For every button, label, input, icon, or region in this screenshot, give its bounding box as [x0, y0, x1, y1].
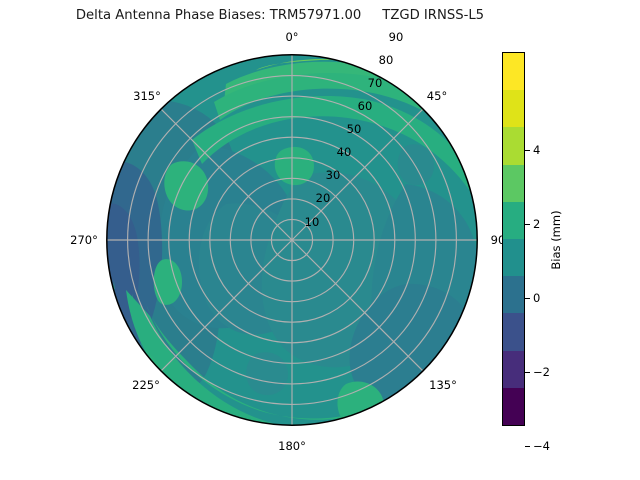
- radial-label-20: 20: [316, 191, 331, 205]
- colorbar-tick-0: [525, 298, 530, 299]
- polar-grid-spokes: [107, 55, 477, 425]
- page-title: Delta Antenna Phase Biases: TRM57971.00 …: [0, 8, 560, 23]
- colorbar-ticklabel-neg4: −4: [533, 439, 550, 453]
- radial-label-90: 90: [389, 30, 404, 44]
- colorbar-ticklabel-neg2: −2: [533, 365, 550, 379]
- colorbar-band-6: [503, 276, 524, 313]
- colorbar-band-0: [503, 53, 524, 90]
- angular-label-135: 135°: [429, 378, 457, 392]
- figure-canvas: Delta Antenna Phase Biases: TRM57971.00 …: [0, 0, 640, 480]
- colorbar[interactable]: 4 2 0 −2 −4: [502, 52, 525, 426]
- colorbar-band-1: [503, 90, 524, 127]
- colorbar-band-5: [503, 239, 524, 276]
- colorbar-band-9: [503, 388, 524, 425]
- polar-axes: 0° 45° 90 135° 180° 225° 270° 315° 10 20…: [106, 54, 478, 426]
- colorbar-axis-label: Bias (mm): [549, 210, 563, 269]
- colorbar-ticklabel-4: 4: [533, 143, 540, 157]
- radial-label-50: 50: [347, 122, 362, 136]
- radial-label-30: 30: [326, 168, 341, 182]
- radial-label-60: 60: [358, 99, 373, 113]
- colorbar-tick-neg4: [525, 446, 530, 447]
- colorbar-gradient: [502, 52, 525, 426]
- colorbar-ticklabel-2: 2: [533, 217, 540, 231]
- polar-plot-surface: [106, 54, 478, 426]
- colorbar-band-2: [503, 127, 524, 164]
- angular-label-225: 225°: [132, 378, 160, 392]
- angular-label-0: 0°: [285, 30, 298, 44]
- colorbar-tick-2: [525, 224, 530, 225]
- angular-label-270: 270°: [70, 233, 98, 247]
- colorbar-band-4: [503, 202, 524, 239]
- colorbar-tick-4: [525, 150, 530, 151]
- colorbar-band-3: [503, 165, 524, 202]
- radial-label-70: 70: [368, 76, 383, 90]
- colorbar-band-7: [503, 313, 524, 350]
- colorbar-tick-neg2: [525, 372, 530, 373]
- colorbar-band-8: [503, 351, 524, 388]
- radial-label-80: 80: [379, 53, 394, 67]
- radial-label-40: 40: [337, 145, 352, 159]
- colorbar-ticklabel-0: 0: [533, 291, 540, 305]
- angular-label-180: 180°: [278, 439, 306, 453]
- angular-label-315: 315°: [133, 89, 161, 103]
- radial-label-10: 10: [305, 215, 320, 229]
- angular-label-45: 45°: [427, 89, 447, 103]
